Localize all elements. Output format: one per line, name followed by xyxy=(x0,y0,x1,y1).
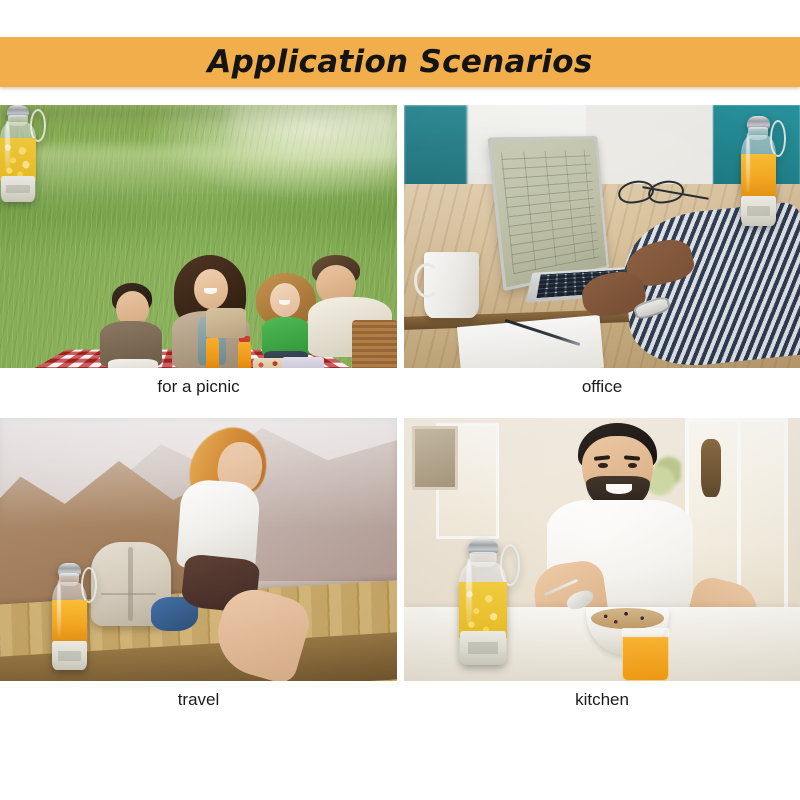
scenario-caption-office: office xyxy=(404,368,800,405)
juice-bottle-2 xyxy=(238,341,251,368)
decorative-vase xyxy=(701,439,721,497)
laptop-screen xyxy=(488,136,610,291)
bottle-gloss xyxy=(5,121,10,173)
scenario-card-picnic[interactable]: for a picnic xyxy=(0,105,397,405)
picnic-basket xyxy=(352,320,397,368)
scenario-caption-picnic: for a picnic xyxy=(0,368,397,405)
scenario-caption-travel: travel xyxy=(0,681,397,718)
bottle-gloss xyxy=(57,580,62,638)
scenario-photo-picnic xyxy=(0,105,397,368)
scenario-card-kitchen[interactable]: kitchen xyxy=(404,418,800,718)
page-title: Application Scenarios xyxy=(207,44,592,80)
muesli-with-berries xyxy=(591,608,664,629)
bottle-gloss xyxy=(746,133,751,193)
bottle-label xyxy=(468,642,498,653)
wall-mirror xyxy=(412,426,458,490)
man-eye-left xyxy=(598,463,608,469)
bottle-label xyxy=(747,206,770,216)
sunlight-highlight-corner xyxy=(230,105,397,161)
person-boy xyxy=(96,283,168,368)
title-banner: Application Scenarios xyxy=(0,37,800,87)
scenario-photo-office xyxy=(404,105,800,368)
orange-juice-glass xyxy=(622,628,670,681)
mother-smile xyxy=(204,288,217,294)
product-blender-bottle xyxy=(52,563,88,671)
paper-bag xyxy=(206,308,246,338)
scenario-card-travel[interactable]: travel xyxy=(0,418,397,718)
bottle-gloss xyxy=(466,559,472,627)
scenario-card-office[interactable]: office xyxy=(404,105,800,405)
spreadsheet-content xyxy=(501,149,600,274)
girl-smile xyxy=(279,300,290,305)
boy-shorts xyxy=(108,359,158,368)
scenario-grid: for a picnic xyxy=(0,105,800,765)
bottle-label xyxy=(6,185,29,194)
scenario-photo-kitchen xyxy=(404,418,800,681)
juice-bottle-1 xyxy=(206,337,219,368)
product-blender-bottle xyxy=(0,105,36,202)
scenario-photo-travel xyxy=(0,418,397,681)
mug-handle xyxy=(414,263,440,298)
application-scenarios-page: Application Scenarios xyxy=(0,0,800,800)
food-container xyxy=(282,357,324,368)
product-blender-bottle xyxy=(459,539,507,665)
scenario-caption-kitchen: kitchen xyxy=(404,681,800,718)
bottle-label xyxy=(58,651,81,661)
product-blender-bottle xyxy=(741,116,777,226)
backpack-pocket xyxy=(101,593,157,620)
